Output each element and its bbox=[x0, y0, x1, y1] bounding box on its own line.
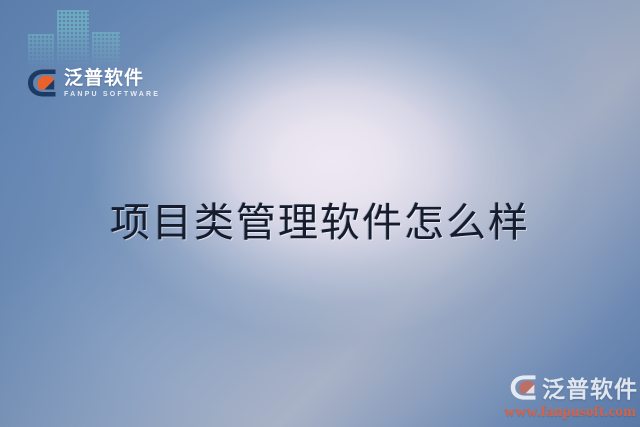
watermark-name-cn: 泛普软件 bbox=[542, 370, 638, 404]
pixel-column-center bbox=[57, 10, 89, 68]
brand-logo: 泛普软件 FANPU SOFTWARE bbox=[24, 68, 160, 98]
page-title: 项目类管理软件怎么样 bbox=[0, 190, 640, 248]
watermark: 泛普软件 www.fanpusoft.com bbox=[504, 370, 638, 421]
watermark-logo-row: 泛普软件 bbox=[507, 370, 638, 404]
brand-name-en: FANPU SOFTWARE bbox=[64, 91, 160, 98]
fanpu-watermark-mark bbox=[507, 374, 537, 401]
pixel-column-right bbox=[92, 32, 120, 68]
brand-text: 泛普软件 FANPU SOFTWARE bbox=[64, 69, 160, 98]
banner-canvas: 泛普软件 FANPU SOFTWARE 项目类管理软件怎么样 泛普软件 www.… bbox=[0, 0, 640, 427]
watermark-url: www.fanpusoft.com bbox=[504, 404, 636, 421]
fanpu-logo-mark bbox=[24, 68, 57, 98]
pixel-column-left bbox=[28, 34, 54, 68]
pixel-city-pattern bbox=[28, 2, 128, 68]
brand-name-cn: 泛普软件 bbox=[64, 69, 160, 88]
